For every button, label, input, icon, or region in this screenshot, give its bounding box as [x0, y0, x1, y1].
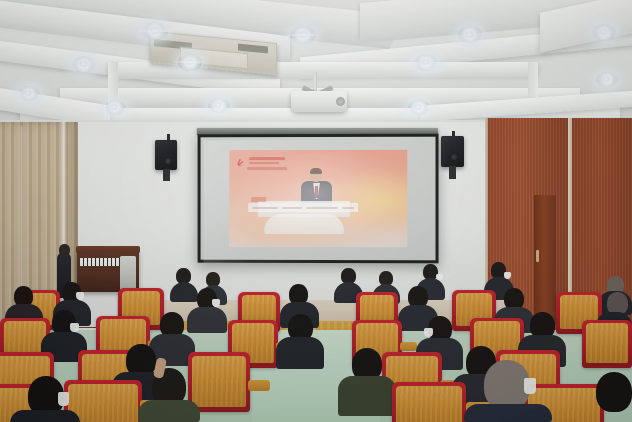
- desk-base: [264, 214, 344, 234]
- wall-speaker-right: [441, 136, 464, 167]
- seat-back: [192, 356, 246, 407]
- attendee-head: [596, 372, 632, 412]
- face-mask: [76, 292, 84, 300]
- piano-top-panel: [76, 246, 140, 253]
- seat-back: [396, 386, 462, 422]
- face-mask: [212, 299, 220, 307]
- attendee-shoulders: [138, 400, 200, 422]
- attendee-shoulders: [276, 337, 324, 369]
- anchor-tie: [315, 186, 318, 198]
- door-handle[interactable]: [536, 250, 539, 262]
- face-mask: [58, 392, 69, 406]
- speaker-cone-left: [165, 158, 171, 164]
- ceiling: [0, 0, 632, 135]
- attendee-shoulders: [464, 404, 552, 422]
- seat-armrest: [400, 342, 417, 351]
- seat-armrest: [248, 380, 270, 391]
- attendee-shoulders: [10, 410, 80, 422]
- speaker-cone-right: [451, 154, 457, 160]
- attendee-shoulders: [170, 282, 198, 302]
- face-mask: [504, 272, 511, 279]
- anchor-hair: [310, 168, 322, 174]
- screen-surface: [201, 137, 436, 261]
- speaker-arm-left: [163, 169, 170, 181]
- attendee-shoulders: [187, 307, 227, 333]
- auditorium-scene: [0, 0, 632, 422]
- face-mask: [424, 328, 433, 337]
- speaker-arm-right: [449, 166, 456, 179]
- wall-speaker-left: [155, 140, 177, 170]
- face-mask: [524, 378, 536, 394]
- projection-screen: [198, 134, 439, 264]
- ticker-tag: [251, 197, 266, 202]
- seat-back: [586, 323, 628, 363]
- attendee-shoulders: [338, 376, 396, 416]
- projector-lens: [336, 97, 345, 106]
- standing-attendee-head: [59, 244, 70, 256]
- face-mask: [70, 323, 79, 332]
